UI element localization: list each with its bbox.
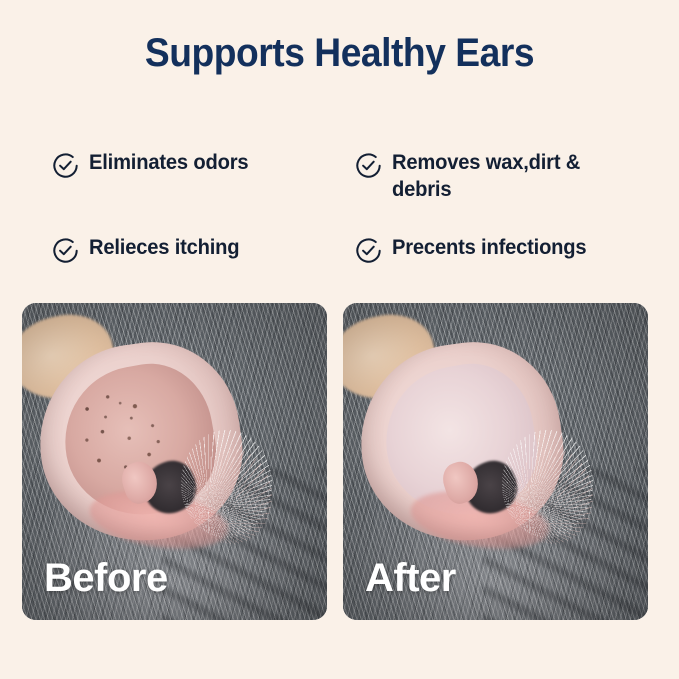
feature-item-eliminates-odors: Eliminates odors (52, 150, 355, 235)
before-panel: Before (22, 303, 327, 620)
panel-caption: After (365, 558, 456, 598)
feature-item-prevents-infections: Precents infectiongs (355, 235, 679, 290)
panel-caption: Before (44, 558, 168, 598)
feature-list: Eliminates odors Removes wax,dirt & debr… (0, 150, 679, 290)
feature-label: Precents infectiongs (392, 235, 586, 262)
check-circle-icon (355, 237, 382, 264)
page-title: Supports Healthy Ears (24, 30, 655, 76)
after-panel: After (343, 303, 648, 620)
feature-label: Relieces itching (89, 235, 239, 262)
feature-label: Removes wax,dirt & debris (392, 150, 644, 204)
feature-item-relieves-itching: Relieces itching (52, 235, 355, 290)
feature-label: Eliminates odors (89, 150, 248, 177)
check-circle-icon (52, 237, 79, 264)
check-circle-icon (355, 152, 382, 179)
check-circle-icon (52, 152, 79, 179)
before-after-comparison: Before After (22, 303, 648, 620)
feature-item-removes-wax-dirt-debris: Removes wax,dirt & debris (355, 150, 679, 235)
